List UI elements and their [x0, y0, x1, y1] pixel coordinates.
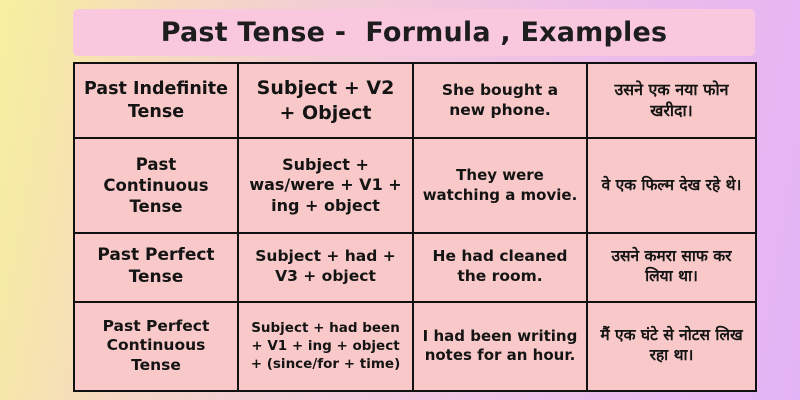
table-row: Past Perfect Tense Subject + had + V3 + … — [74, 233, 756, 302]
example-hindi-cell: उसने कमरा साफ कर लिया था। — [587, 233, 756, 302]
example-english-cell: I had been writing notes for an hour. — [413, 302, 587, 391]
example-hindi-cell: मैं एक घंटे से नोटस लिख रहा था। — [587, 302, 756, 391]
formula-cell: Subject + had + V3 + object — [238, 233, 413, 302]
page-title: Past Tense - Formula , Examples — [161, 17, 668, 48]
formula-cell: Subject + had been + V1 + ing + object +… — [238, 302, 413, 391]
example-hindi-cell: उसने एक नया फोन खरीदा। — [587, 63, 756, 138]
tense-name-cell: Past Indefinite Tense — [74, 63, 238, 138]
table-row: Past Perfect Continuous Tense Subject + … — [74, 302, 756, 391]
tense-table: Past Indefinite Tense Subject + V2 + Obj… — [73, 62, 757, 392]
table-row: Past Continuous Tense Subject + was/were… — [74, 138, 756, 232]
tense-table-container: Past Indefinite Tense Subject + V2 + Obj… — [73, 62, 755, 392]
formula-cell: Subject + V2 + Object — [238, 63, 413, 138]
poster-page: Past Tense - Formula , Examples Past Ind… — [0, 0, 800, 400]
example-english-cell: They were watching a movie. — [413, 138, 587, 232]
example-hindi-cell: वे एक फिल्म देख रहे थे। — [587, 138, 756, 232]
example-english-cell: He had cleaned the room. — [413, 233, 587, 302]
tense-name-cell: Past Continuous Tense — [74, 138, 238, 232]
tense-name-cell: Past Perfect Continuous Tense — [74, 302, 238, 391]
formula-cell: Subject + was/were + V1 + ing + object — [238, 138, 413, 232]
title-banner: Past Tense - Formula , Examples — [73, 9, 755, 56]
tense-name-cell: Past Perfect Tense — [74, 233, 238, 302]
example-english-cell: She bought a new phone. — [413, 63, 587, 138]
table-row: Past Indefinite Tense Subject + V2 + Obj… — [74, 63, 756, 138]
